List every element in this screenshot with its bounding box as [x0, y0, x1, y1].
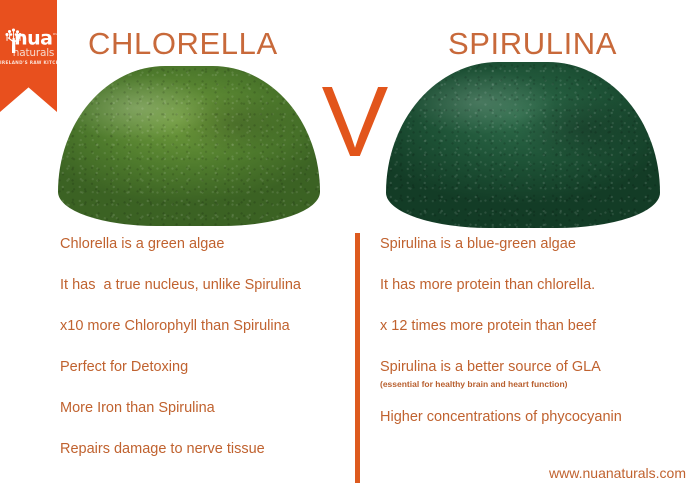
page-title-spirulina: SPIRULINA — [448, 26, 617, 62]
list-item: x10 more Chlorophyll than Spirulina — [60, 318, 350, 335]
list-item-note: (essential for healthy brain and heart f… — [380, 378, 685, 390]
list-item: It has a true nucleus, unlike Spirulina — [60, 277, 350, 294]
column-divider — [355, 233, 360, 483]
spirulina-powder-image — [386, 62, 660, 228]
brand-logo-content: nua™ naturals IRELAND'S RAW KITCHEN — [0, 28, 57, 66]
brand-logo-ribbon[interactable]: nua™ naturals IRELAND'S RAW KITCHEN — [0, 0, 57, 112]
tree-icon — [4, 28, 24, 54]
list-item: Spirulina is a better source of GLA(esse… — [380, 359, 685, 390]
list-item: It has more protein than chlorella. — [380, 277, 685, 294]
trademark-symbol: ™ — [52, 33, 57, 39]
page-title-chlorella: CHLORELLA — [88, 26, 278, 62]
list-item-text: Spirulina is a better source of GLA — [380, 359, 601, 375]
list-item: x 12 times more protein than beef — [380, 318, 685, 335]
versus-label: V — [316, 72, 394, 172]
list-item: Repairs damage to nerve tissue — [60, 441, 350, 458]
list-item: Higher concentrations of phycocyanin — [380, 409, 685, 426]
brand-tagline: IRELAND'S RAW KITCHEN — [0, 61, 57, 65]
list-item: Perfect for Detoxing — [60, 359, 350, 376]
chlorella-powder-image — [58, 66, 320, 226]
list-item: More Iron than Spirulina — [60, 400, 350, 417]
spirulina-facts-list: Spirulina is a blue-green algae It has m… — [380, 236, 685, 450]
website-url[interactable]: www.nuanaturals.com — [549, 465, 686, 481]
chlorella-facts-list: Chlorella is a green algae It has a true… — [60, 236, 350, 482]
list-item: Chlorella is a green algae — [60, 236, 350, 253]
infographic-canvas: nua™ naturals IRELAND'S RAW KITCHEN CHLO… — [0, 0, 700, 492]
list-item: Spirulina is a blue-green algae — [380, 236, 685, 253]
